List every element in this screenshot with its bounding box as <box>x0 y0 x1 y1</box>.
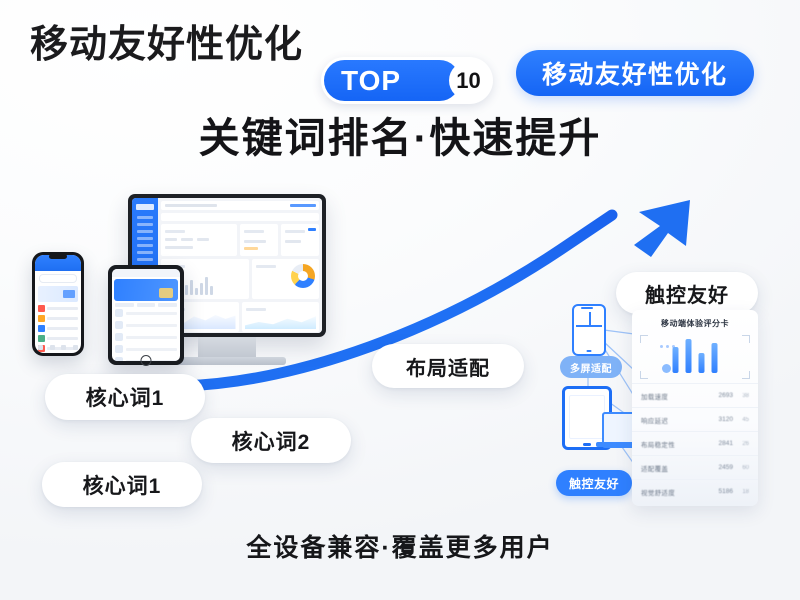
score-card-row: 适配覆盖245960 <box>632 455 758 479</box>
mobile-score-diagram: 多屏适配 触控友好 移动端体验评分卡 加载速度269338响应延迟312045布… <box>548 300 780 515</box>
footer-slogan: 全设备兼容·覆盖更多用户 <box>0 528 800 564</box>
feature-pill-layout-adaptation[interactable]: 布局适配 <box>372 344 524 388</box>
row-delta: 60 <box>733 465 749 471</box>
score-card-bar <box>673 347 679 373</box>
score-card-row: 视觉舒适度518618 <box>632 479 758 503</box>
device-mockups <box>28 190 338 370</box>
score-card-chart <box>640 335 750 379</box>
monitor-foot <box>168 357 286 365</box>
score-card-row: 加载速度269338 <box>632 383 758 407</box>
score-card-row: 交互便捷分项224941 <box>632 503 758 506</box>
top-rank-badge-word: TOP <box>341 67 401 95</box>
page-subtitle: 关键词排名·快速提升 <box>0 118 800 159</box>
score-card-row: 响应延迟312045 <box>632 407 758 431</box>
row-value: 2459 <box>707 464 733 471</box>
row-label: 视觉舒适度 <box>641 487 707 497</box>
phone-notch <box>49 254 67 259</box>
score-card-bar <box>699 353 705 373</box>
row-delta: 45 <box>733 417 749 423</box>
score-card-title: 移动端体验评分卡 <box>632 318 758 329</box>
mobile-score-card: 移动端体验评分卡 加载速度269338响应延迟312045布局稳定性284126… <box>632 310 758 506</box>
row-delta: 26 <box>733 441 749 447</box>
diagram-phone-top-icon <box>572 304 606 356</box>
tablet-screen <box>112 269 180 361</box>
row-value: 3120 <box>707 416 733 423</box>
header-tag-pill[interactable]: 移动友好性优化 <box>516 50 754 96</box>
top-rank-badge-number: 10 <box>449 61 488 100</box>
row-value: 2693 <box>707 392 733 399</box>
diagram-pill-touch-friendly[interactable]: 触控友好 <box>556 470 632 496</box>
row-label: 加载速度 <box>641 391 707 401</box>
smartphone-mockup <box>32 252 84 356</box>
row-label: 适配覆盖 <box>641 463 707 473</box>
diagram-pill-multi-screen[interactable]: 多屏适配 <box>560 356 622 378</box>
score-card-rows: 加载速度269338响应延迟312045布局稳定性284126适配覆盖24596… <box>632 383 758 506</box>
keyword-pill-3[interactable]: 核心词1 <box>42 462 202 507</box>
row-delta: 18 <box>733 489 749 495</box>
row-delta: 38 <box>733 393 749 399</box>
tablet-home-button <box>141 355 152 366</box>
row-value: 2841 <box>707 440 733 447</box>
score-card-row: 布局稳定性284126 <box>632 431 758 455</box>
phone-screen <box>35 255 81 353</box>
score-card-bar <box>712 343 718 373</box>
tablet-mockup <box>108 265 184 365</box>
score-card-bar <box>686 339 692 373</box>
row-label: 布局稳定性 <box>641 439 707 449</box>
monitor-stand <box>198 337 256 357</box>
top-rank-badge-pill: TOP <box>324 60 460 101</box>
keyword-pill-2[interactable]: 核心词2 <box>191 418 351 463</box>
poster-canvas: 移动友好性优化 TOP 10 移动友好性优化 关键词排名·快速提升 <box>0 0 800 600</box>
top-rank-badge: TOP 10 <box>321 57 493 104</box>
page-title: 移动友好性优化 <box>30 26 303 64</box>
keyword-pill-1[interactable]: 核心词1 <box>45 374 205 420</box>
row-value: 5186 <box>707 488 733 495</box>
row-label: 响应延迟 <box>641 415 707 425</box>
